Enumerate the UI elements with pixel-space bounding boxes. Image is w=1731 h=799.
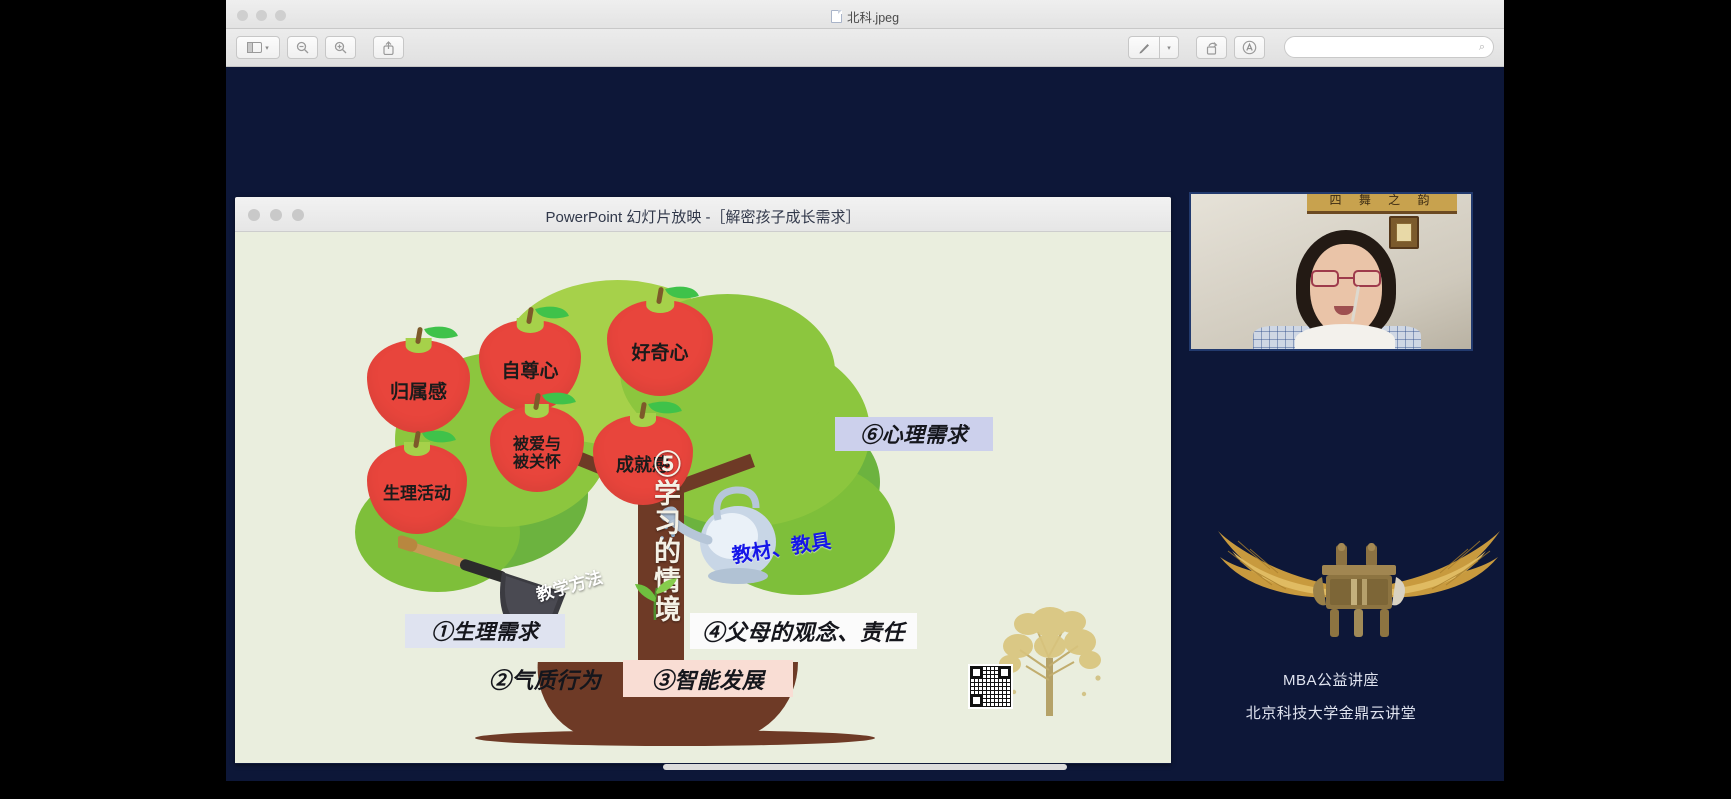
- presenter-glasses: [1311, 270, 1381, 287]
- window-title: 北科.jpeg: [226, 7, 1504, 26]
- window-title-text: 北科.jpeg: [847, 7, 899, 26]
- callout-intelligence-development: ③智能发展: [623, 660, 793, 697]
- markup-button[interactable]: [1128, 36, 1159, 59]
- zoom-out-icon: [296, 41, 309, 54]
- glasses-lens-left: [1311, 270, 1339, 287]
- glasses-lens-right: [1353, 270, 1381, 287]
- zoom-in-button[interactable]: [325, 36, 356, 59]
- preview-toolbar: ▾: [226, 29, 1504, 67]
- screen-root: 北科.jpeg ▾: [0, 0, 1731, 799]
- chevron-down-icon: ▾: [265, 44, 269, 52]
- chevron-down-icon: ▾: [1167, 44, 1171, 52]
- toolbar-left-group: ▾: [236, 36, 411, 59]
- qr-code: [968, 664, 1013, 709]
- zoom-out-button[interactable]: [287, 36, 318, 59]
- presenter-face: [1310, 244, 1382, 336]
- powerpoint-window: PowerPoint 幻灯片放映 -［解密孩子成长需求］: [235, 197, 1171, 764]
- wall-scroll-text: 四 舞 之 韵: [1313, 192, 1453, 208]
- ground-mound: [475, 730, 875, 746]
- apple-label: 生理活动: [379, 484, 455, 503]
- callout-parent-beliefs-responsibility: ④父母的观念、责任: [690, 613, 917, 649]
- wall-lamp-icon: [1389, 216, 1419, 249]
- presenter-collar: [1295, 324, 1395, 351]
- winged-ding-logo: [1214, 527, 1504, 639]
- apple-label: 好奇心: [627, 343, 692, 364]
- sidebar-icon: [247, 42, 262, 53]
- caption-line-1: MBA公益讲座: [1189, 669, 1473, 690]
- powerpoint-titlebar: PowerPoint 幻灯片放映 -［解密孩子成长需求］: [235, 197, 1171, 232]
- qr-marker: [971, 695, 982, 706]
- glasses-bridge: [1339, 277, 1353, 279]
- apple-label-line1: 被爱与: [513, 436, 561, 454]
- zoom-in-icon: [334, 41, 347, 54]
- apple-label: 归属感: [386, 382, 451, 403]
- search-field[interactable]: ⌕: [1284, 36, 1494, 58]
- search-icon: ⌕: [1479, 41, 1485, 54]
- apple-stem-icon: [415, 327, 423, 345]
- horizontal-scrollbar[interactable]: [663, 764, 1067, 770]
- callout-psychological-needs: ⑥心理需求: [835, 417, 993, 451]
- branding-caption: MBA公益讲座 北京科技大学金鼎云讲堂: [1189, 669, 1473, 723]
- preview-window: 北科.jpeg ▾: [226, 0, 1504, 781]
- powerpoint-title: PowerPoint 幻灯片放映 -［解密孩子成长需求］: [235, 206, 1171, 227]
- apple-label: 自尊心: [497, 361, 562, 382]
- caption-line-2: 北京科技大学金鼎云讲堂: [1189, 702, 1473, 723]
- logo-bronze-ding: [1313, 543, 1405, 637]
- pen-icon: [1138, 41, 1151, 54]
- window-titlebar: 北科.jpeg: [226, 0, 1504, 29]
- qr-marker: [971, 667, 982, 678]
- share-icon: [383, 41, 394, 55]
- circled-a-icon: [1242, 40, 1257, 55]
- markup-options-button[interactable]: ▾: [1159, 36, 1179, 59]
- document-icon: [831, 10, 842, 23]
- qr-pattern: [970, 666, 1011, 707]
- apple-label: 被爱与 被关怀: [509, 436, 565, 472]
- slide-canvas: 归属感 自尊心 好奇心: [235, 232, 1171, 763]
- qr-marker: [999, 667, 1010, 678]
- sidebar-view-button[interactable]: ▾: [236, 36, 280, 59]
- toolbar-right-group: ▾: [1128, 36, 1272, 59]
- apple-label-line2: 被关怀: [513, 454, 561, 472]
- annotate-button[interactable]: [1234, 36, 1265, 59]
- rotate-button[interactable]: [1196, 36, 1227, 59]
- seedling-graphic: [627, 562, 687, 622]
- image-canvas: PowerPoint 幻灯片放映 -［解密孩子成长需求］: [226, 67, 1504, 781]
- share-button[interactable]: [373, 36, 404, 59]
- presenter-video-thumbnail: 四 舞 之 韵: [1189, 192, 1473, 351]
- leaf-icon: [424, 320, 458, 345]
- rotate-icon: [1205, 41, 1218, 55]
- callout-temperament-behavior: ②气质行为: [465, 662, 625, 696]
- callout-physiological-needs: ①生理需求: [405, 614, 565, 648]
